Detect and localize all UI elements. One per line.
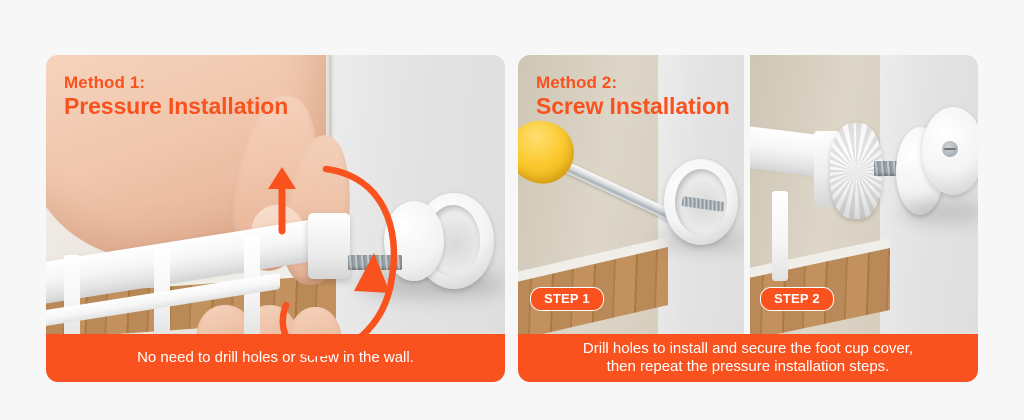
gate-slat-1 [64, 255, 80, 339]
cup-screw-head [942, 141, 958, 157]
method-2-title-block: Method 2: Screw Installation [536, 73, 730, 120]
method-2-label: Method 2: [536, 73, 730, 93]
rotation-arrow-icon [280, 155, 410, 365]
method-1-label: Method 1: [64, 73, 288, 93]
step-2-panel: STEP 2 [750, 55, 978, 335]
method-2-panel: STEP 1 [518, 55, 978, 382]
method-2-title: Screw Installation [536, 93, 730, 120]
method-1-caption: No need to drill holes or screw in the w… [46, 334, 505, 382]
screw-installation-step2-scene: STEP 2 [750, 55, 978, 335]
method-1-title: Pressure Installation [64, 93, 288, 120]
method-2-caption: Drill holes to install and secure the fo… [518, 334, 978, 382]
step-1-badge: STEP 1 [530, 287, 604, 311]
method-1-title-block: Method 1: Pressure Installation [64, 73, 288, 120]
pressure-installation-scene: Method 1: Pressure Installation [46, 55, 505, 382]
instruction-graphic: Method 1: Pressure Installation No need … [0, 0, 1024, 420]
method-2-caption-line-2: then repeat the pressure installation st… [583, 358, 913, 376]
cup-shadow [900, 203, 978, 221]
step-2-badge: STEP 2 [760, 287, 834, 311]
method-1-panel: Method 1: Pressure Installation [46, 55, 505, 382]
method-2-caption-line-1: Drill holes to install and secure the fo… [583, 340, 913, 358]
gate-vertical-post [772, 191, 788, 281]
